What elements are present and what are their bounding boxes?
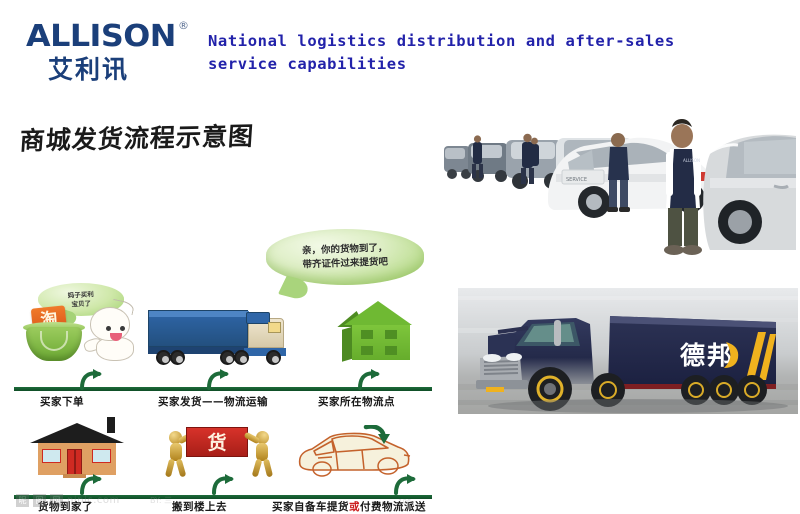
green-house-window: [361, 330, 373, 339]
shipping-flow-diagram: 商城发货流程示意图 妈子买利 宝贝了 淘: [0, 105, 445, 415]
brand-name-chinese: 艾利讯: [48, 56, 206, 84]
delivery-notice-text: 亲，你的货物到了， 带齐证件过来提货吧: [265, 226, 425, 287]
stage-label-accent: 或: [349, 501, 360, 513]
svg-text:ALLISON: ALLISON: [683, 158, 700, 163]
flow-arrow-icon: [205, 368, 231, 390]
truck-wheel: [266, 350, 281, 365]
small-speech-bubble: 妈子买利 宝贝了: [38, 283, 124, 316]
flow-arrow-icon: [210, 473, 236, 495]
cargo-crate: 货: [186, 427, 248, 457]
brand-logo: ALLISON ® 艾利讯: [26, 22, 206, 88]
truck-trailer: [148, 310, 248, 347]
tan-house-icon: [30, 417, 124, 479]
truck-brand-text: 德邦: [680, 341, 734, 370]
mover-leg: [165, 459, 175, 478]
green-house-window: [385, 346, 397, 355]
mover-leg: [176, 459, 187, 478]
semi-truck-icon: [148, 310, 290, 368]
truck-trailer-top: [149, 311, 249, 317]
stage-label-tail: 付费物流派送: [360, 501, 426, 513]
deppon-logistics-truck-photo: 德邦: [458, 288, 798, 414]
tan-house-roof: [30, 423, 124, 443]
service-vehicle-fleet-photo: SERVICE: [444, 112, 796, 268]
green-house-window: [361, 346, 373, 355]
green-house-icon: [340, 301, 428, 367]
page-title: National logistics distribution and afte…: [208, 30, 768, 76]
diagram-title: 商城发货流程示意图: [19, 117, 256, 158]
delivery-notice-speech-bubble: 亲，你的货物到了， 带齐证件过来提货吧: [266, 229, 424, 285]
baby-eye-left: [106, 326, 111, 331]
stage-label: 买家发货——物流运输: [158, 394, 268, 409]
flow-arrow-icon: [78, 368, 104, 390]
flow-arrow-icon: [78, 473, 104, 495]
movers-carrying-crate-icon: 货: [160, 423, 278, 479]
truck-sleeper: [246, 312, 270, 324]
truck-wheel: [170, 350, 185, 365]
green-house-roof: [344, 301, 412, 325]
stage-label: 货物到家了: [38, 499, 93, 514]
truck-wheel: [156, 350, 171, 365]
flow-arrow-icon: [356, 368, 382, 390]
mover-leg: [263, 459, 273, 478]
truck-wheel: [220, 350, 235, 365]
green-house-window: [385, 330, 397, 339]
slide-canvas: ALLISON ® 艾利讯 National logistics distrib…: [0, 0, 800, 450]
truck-window: [268, 322, 281, 333]
mover-leg: [252, 459, 263, 478]
registered-trademark-icon: ®: [178, 19, 189, 32]
tan-house-window: [42, 449, 61, 463]
stage-label-main: 买家自备车提货: [272, 501, 349, 513]
stage-label: 买家所在物流点: [318, 394, 395, 409]
watermark-id: 106: [398, 498, 411, 506]
tan-house-door: [67, 449, 82, 475]
stage-label: 搬到楼上去: [172, 499, 227, 514]
flow-arrow-icon: [392, 473, 418, 495]
watermark-code: BY: 三: [150, 495, 172, 506]
stage-label: 买家下单: [40, 394, 84, 409]
svg-text:SERVICE: SERVICE: [566, 177, 587, 183]
truck-wheel: [234, 350, 249, 365]
mover-figure: [248, 431, 274, 477]
baby-eye-right: [120, 326, 125, 331]
tan-house-window: [92, 449, 111, 463]
crate-char: 货: [187, 428, 247, 458]
small-speech-bubble-text: 妈子买利 宝贝了: [37, 281, 125, 318]
